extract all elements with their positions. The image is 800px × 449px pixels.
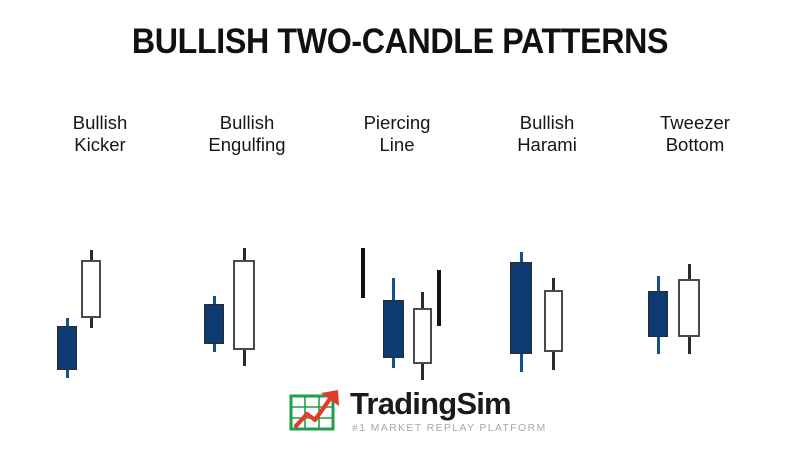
candle-body: [81, 260, 101, 318]
pattern-label-line2: Bottom: [620, 134, 770, 156]
candle-body: [233, 260, 255, 350]
tradingsim-logo: TradingSim #1 MARKET REPLAY PLATFORM: [288, 388, 518, 440]
candle-body: [383, 300, 404, 358]
pattern-label-line1: Piercing: [322, 112, 472, 134]
patterns-row: BullishKickerBullishEngulfingPiercingLin…: [0, 112, 800, 342]
pattern-label-line1: Bullish: [472, 112, 622, 134]
pattern-label-line2: Kicker: [25, 134, 175, 156]
candle-body: [204, 304, 224, 344]
pattern-figure-tweezer-bottom: [620, 164, 770, 342]
pattern-label-bullish-engulfing: BullishEngulfing: [172, 112, 322, 156]
pattern-label-bullish-kicker: BullishKicker: [25, 112, 175, 156]
logo-wordmark: TradingSim: [350, 386, 511, 422]
logo-tagline: #1 MARKET REPLAY PLATFORM: [352, 422, 547, 434]
chart-grid-arrow-icon: [288, 389, 342, 435]
pattern-label-line1: Tweezer: [620, 112, 770, 134]
pattern-bullish-kicker: BullishKicker: [25, 112, 175, 342]
pattern-label-line1: Bullish: [25, 112, 175, 134]
pattern-tweezer-bottom: TweezerBottom: [620, 112, 770, 342]
pattern-bullish-harami: BullishHarami: [472, 112, 622, 342]
pattern-label-piercing-line: PiercingLine: [322, 112, 472, 156]
pattern-label-line1: Bullish: [172, 112, 322, 134]
pattern-figure-piercing-line: [322, 164, 472, 342]
pattern-figure-bullish-engulfing: [172, 164, 322, 342]
pattern-label-tweezer-bottom: TweezerBottom: [620, 112, 770, 156]
page-title: BULLISH TWO-CANDLE PATTERNS: [32, 22, 768, 62]
candle-body: [510, 262, 532, 354]
candle-body: [544, 290, 563, 352]
pattern-label-line2: Line: [322, 134, 472, 156]
pattern-bullish-engulfing: BullishEngulfing: [172, 112, 322, 342]
candle-body: [678, 279, 700, 337]
pattern-label-line2: Engulfing: [172, 134, 322, 156]
pattern-label-line2: Harami: [472, 134, 622, 156]
pattern-label-bullish-harami: BullishHarami: [472, 112, 622, 156]
pattern-piercing-line: PiercingLine: [322, 112, 472, 342]
pattern-figure-bullish-kicker: [25, 164, 175, 342]
candle-body: [57, 326, 77, 370]
candle-body: [413, 308, 432, 364]
marker-bar: [437, 270, 441, 326]
candle-body: [648, 291, 668, 337]
pattern-figure-bullish-harami: [472, 164, 622, 342]
marker-bar: [361, 248, 365, 298]
